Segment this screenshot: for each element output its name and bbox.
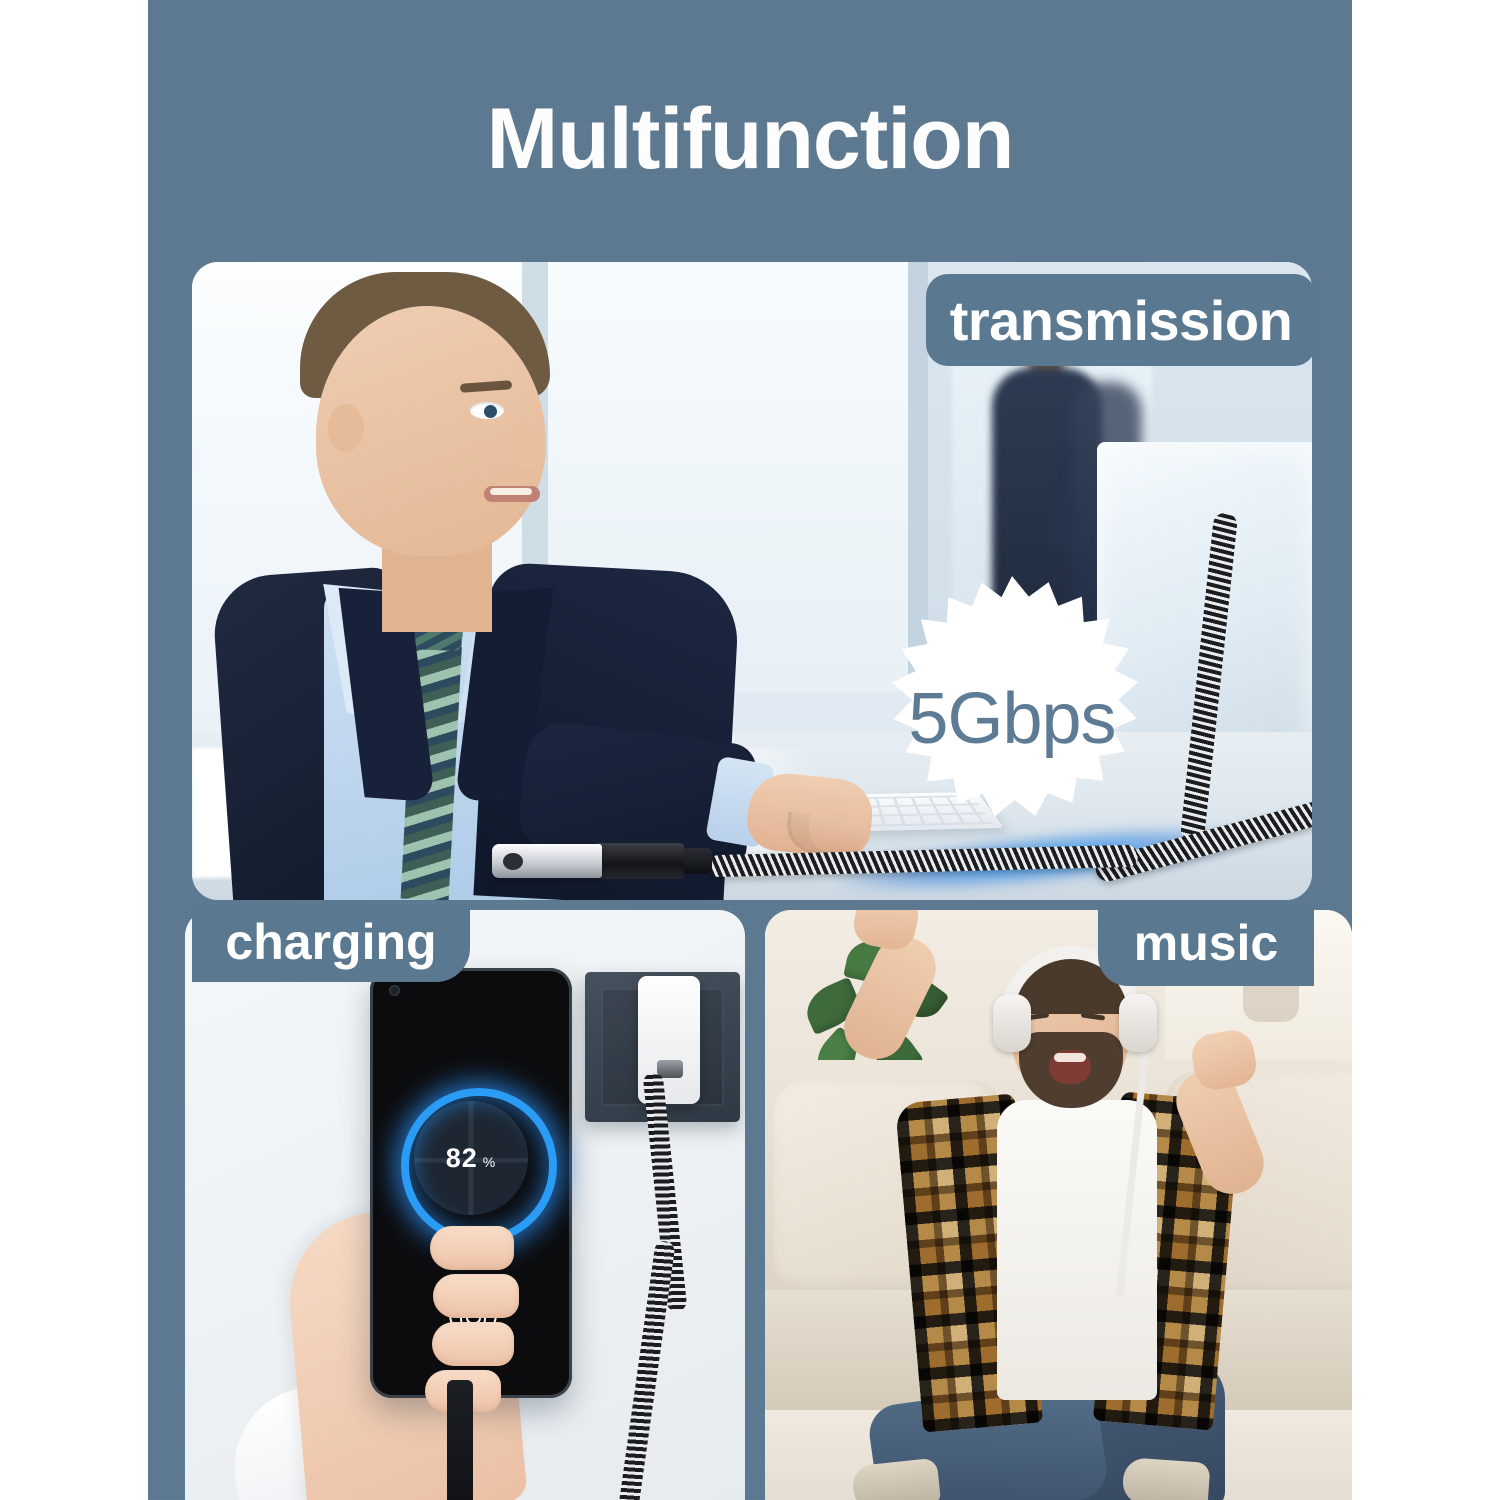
usb-c-plug-in-phone: [447, 1380, 473, 1500]
braided-cable-icon-lower: [618, 1240, 675, 1500]
product-feature-card: Multifunction: [0, 0, 1500, 1500]
battery-percentage: 82%: [370, 1143, 572, 1174]
battery-percent-value: 82: [446, 1143, 478, 1173]
music-listening-photo: [765, 910, 1352, 1500]
speed-value: 5Gbps: [908, 678, 1115, 760]
finger-1: [430, 1226, 514, 1270]
badge-speed-starburst: 5Gbps: [862, 576, 1162, 866]
open-mouth: [1049, 1050, 1091, 1084]
shoe-right: [1122, 1457, 1211, 1500]
usb-c-connector: [596, 843, 684, 879]
pupil: [484, 405, 497, 418]
finger-3: [432, 1322, 514, 1366]
finger-2: [433, 1274, 519, 1318]
headphone-earcup-right: [1119, 994, 1157, 1052]
battery-percent-unit: %: [483, 1154, 496, 1170]
page-title: Multifunction: [148, 96, 1352, 182]
front-camera: [389, 985, 400, 996]
charging-background: 82%: [185, 910, 745, 1500]
badge-music: music: [1098, 904, 1314, 986]
music-listener: [893, 940, 1233, 1500]
ear: [328, 404, 364, 452]
phone-charging-photo: 82%: [185, 910, 745, 1500]
headphone-earcup-left: [993, 994, 1031, 1052]
badge-charging: charging: [192, 906, 470, 982]
music-background: [765, 910, 1352, 1500]
usb-adapter-icon: [492, 844, 602, 878]
nose: [510, 422, 546, 468]
mouth: [484, 486, 540, 502]
badge-transmission: transmission: [926, 274, 1316, 366]
